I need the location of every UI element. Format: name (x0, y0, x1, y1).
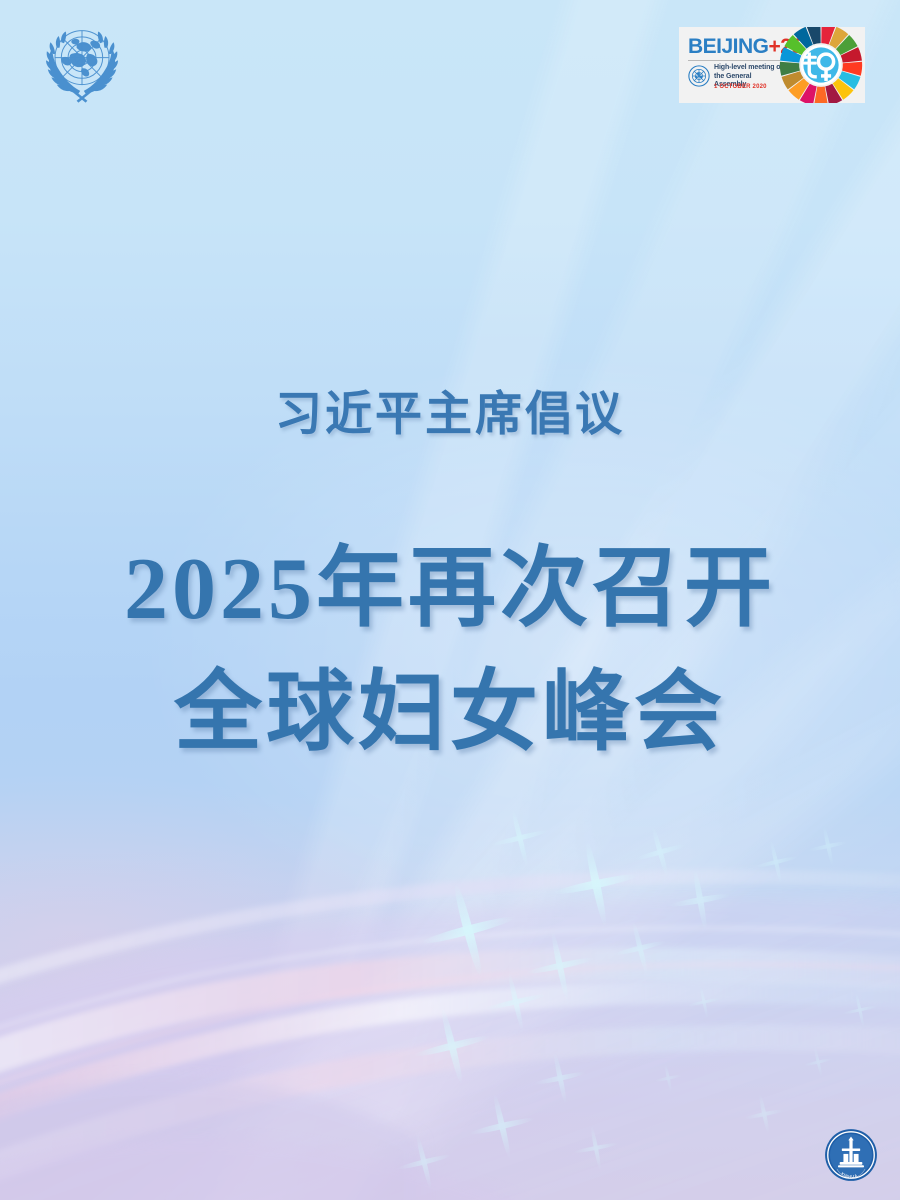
sparkle-star-icon (839, 989, 882, 1032)
sparkle-star-icon (409, 871, 527, 989)
un-emblem-icon (36, 18, 128, 108)
sparkle-star-icon (684, 982, 724, 1022)
sparkle-star-icon (462, 1086, 541, 1165)
sparkle-star-icon (518, 924, 601, 1007)
sparkle-star-icon (740, 1090, 787, 1137)
page-title: 2025年再次召开 全球妇女峰会 (0, 528, 900, 776)
sparkle-star-icon (750, 836, 803, 889)
sparkle-star-icon (804, 822, 851, 869)
badge-text-panel: BEIJING+25 (679, 27, 787, 103)
un-emblem-small-icon (688, 65, 710, 87)
beijing25-badge: BEIJING+25 (679, 27, 865, 103)
sparkle-star-icon (390, 1128, 458, 1196)
xinhua-logo-icon: XINHUA (824, 1128, 878, 1182)
sparkle-star-icon (569, 1121, 623, 1175)
sparkle-star-icon (607, 915, 672, 980)
sparkle-star-icon (628, 820, 692, 884)
headline-block: 习近平主席倡议 2025年再次召开 全球妇女峰会 (0, 388, 900, 776)
page-title-line1: 2025年再次召开 (0, 528, 900, 652)
sparkle-star-icon (405, 999, 500, 1094)
sparkle-star-icon (651, 1061, 684, 1094)
badge-divider (688, 60, 780, 61)
sparkle-star-icon (664, 864, 736, 936)
sparkle-star-icon (480, 966, 552, 1038)
page-title-line2: 全球妇女峰会 (0, 652, 900, 776)
badge-subtitle-line1: High-level meeting of (714, 64, 784, 73)
sparkle-star-icon (800, 1044, 836, 1080)
sparkle-star-icon (545, 833, 647, 935)
poster-canvas: BEIJING+25 (0, 0, 900, 1200)
page-kicker: 习近平主席倡议 (0, 388, 900, 442)
badge-date: 1 OCTOBER 2020 (714, 84, 767, 90)
sparkle-star-icon (485, 803, 555, 873)
sparkle-star-icon (529, 1047, 591, 1109)
badge-wordmark-primary: BEIJING (688, 35, 769, 58)
sdg-colour-wheel-icon (779, 27, 863, 103)
